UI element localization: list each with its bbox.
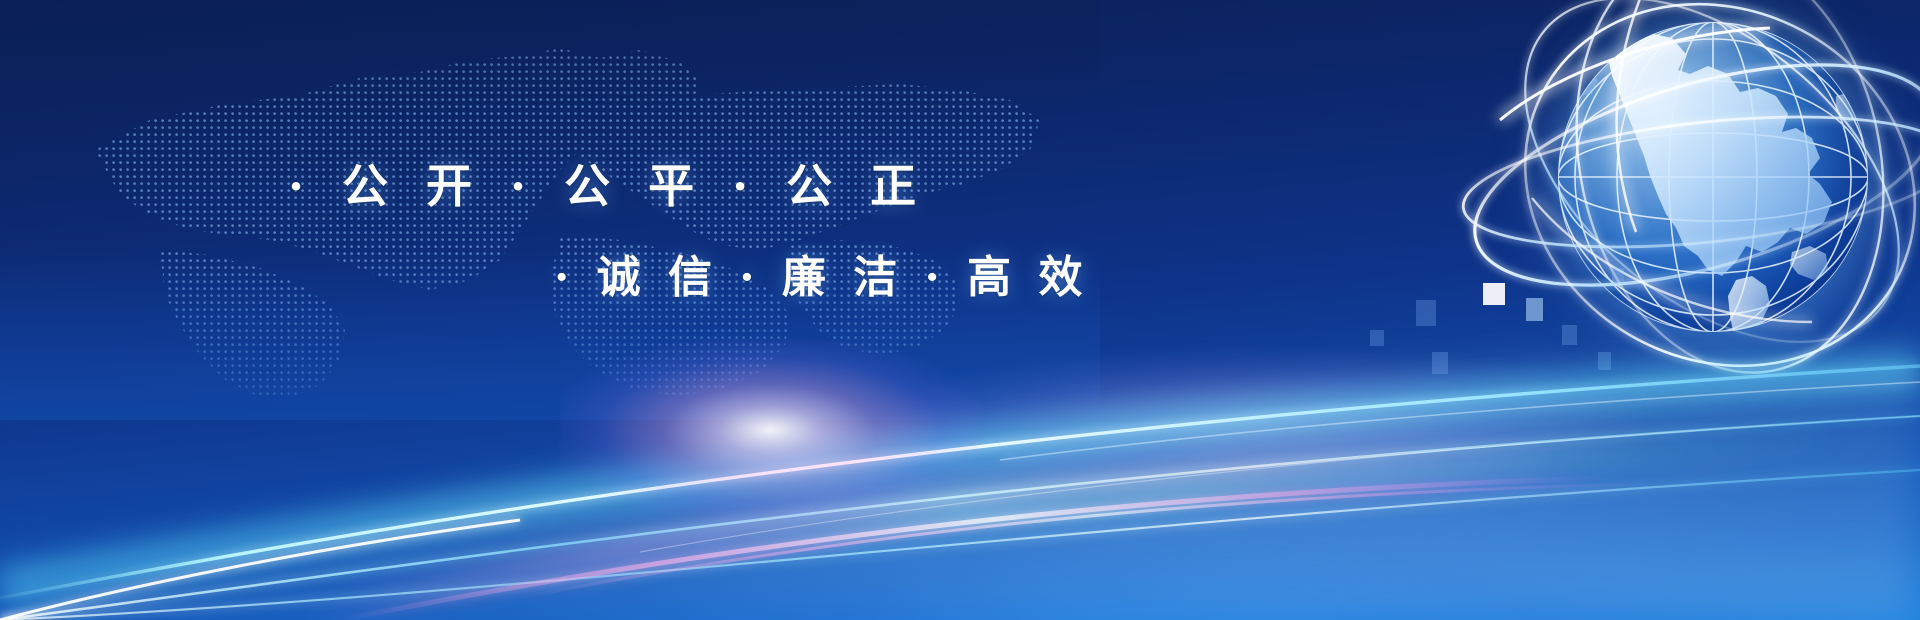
floating-square [1526, 298, 1543, 321]
floating-square [1612, 268, 1624, 284]
slogan-line-primary: · 公 开 · 公 平 · 公 正 [288, 150, 927, 216]
hero-banner: · 公 开 · 公 平 · 公 正 · 诚 信 · 廉 洁 · 高 效 [0, 0, 1920, 620]
continent-north-america [1566, 32, 1872, 362]
slogan-line-secondary: · 诚 信 · 廉 洁 · 高 效 [554, 241, 1089, 305]
floating-square [1483, 283, 1505, 305]
light-wave-graphic [0, 320, 1920, 620]
